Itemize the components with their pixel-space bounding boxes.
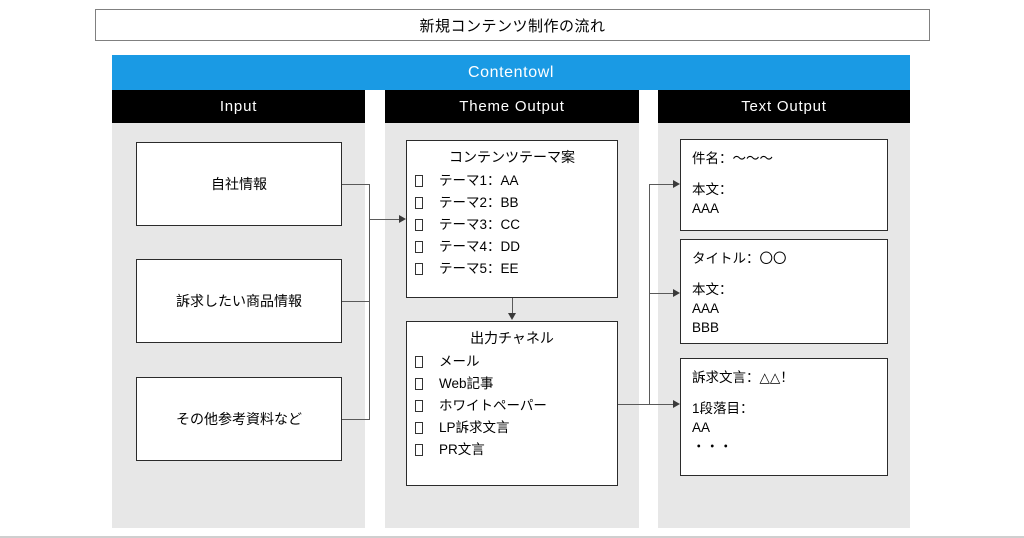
connector-input-3 — [342, 419, 370, 420]
input-card-other-materials[interactable]: その他参考資料など — [136, 377, 342, 461]
arrow-text-1-icon — [673, 180, 680, 188]
tofu-box-icon — [415, 444, 423, 456]
column-header-theme-output: Theme Output — [385, 90, 639, 123]
theme-card-content-themes[interactable]: コンテンツテーマ案 テーマ1：AA テーマ2：BB テーマ3：CC テーマ4：D… — [406, 140, 618, 298]
text-output-card-article[interactable]: タイトル：〇〇 本文： AAA BBB — [680, 239, 888, 344]
connector-input-2 — [342, 301, 370, 302]
brand-bar: Contentowl — [112, 55, 910, 90]
list-item[interactable]: テーマ5：EE — [407, 258, 617, 280]
tofu-box-icon — [415, 422, 423, 434]
tofu-box-icon — [415, 378, 423, 390]
arrow-input-to-theme-icon — [399, 215, 406, 223]
text-line: AAA — [692, 299, 887, 318]
text-line: BBB — [692, 318, 887, 337]
column-header-theme-output-label: Theme Output — [459, 98, 564, 115]
list-item[interactable]: テーマ3：CC — [407, 214, 617, 236]
text-line: 件名：～～～ — [692, 149, 887, 168]
text-line: AAA — [692, 199, 887, 218]
arrow-text-3-icon — [673, 400, 680, 408]
tofu-box-icon — [415, 175, 423, 187]
slide-title-box: 新規コンテンツ制作の流れ — [95, 9, 930, 41]
input-card-product-info-label: 訴求したい商品情報 — [176, 291, 302, 311]
text-output-card-copy[interactable]: 訴求文言：△△！ 1段落目： AA ・・・ — [680, 358, 888, 476]
list-item[interactable]: PR文言 — [407, 439, 617, 461]
list-item[interactable]: Web記事 — [407, 373, 617, 395]
list-item-label: テーマ1：AA — [439, 171, 519, 191]
list-item[interactable]: テーマ2：BB — [407, 192, 617, 214]
connector-input-to-theme — [369, 219, 400, 220]
page-title: 新規コンテンツ制作の流れ — [419, 15, 605, 36]
brand-name: Contentowl — [468, 64, 554, 82]
list-item[interactable]: テーマ4：DD — [407, 236, 617, 258]
list-item-label: Web記事 — [439, 374, 494, 394]
input-card-other-materials-label: その他参考資料など — [176, 409, 302, 429]
list-item-label: メール — [439, 352, 480, 372]
input-card-company-info-label: 自社情報 — [211, 174, 267, 194]
slide-canvas: 新規コンテンツ制作の流れ Contentowl Input 自社情報 訴求したい… — [0, 0, 1024, 538]
list-item-label: テーマ3：CC — [439, 215, 520, 235]
tofu-box-icon — [415, 219, 423, 231]
connector-text-3 — [649, 404, 675, 405]
arrow-theme-to-channel-icon — [508, 313, 516, 320]
column-header-text-output-label: Text Output — [741, 98, 827, 115]
input-card-product-info[interactable]: 訴求したい商品情報 — [136, 259, 342, 343]
connector-channel-out — [618, 404, 650, 405]
list-item[interactable]: LP訴求文言 — [407, 417, 617, 439]
text-line: 1段落目： — [692, 399, 887, 418]
list-item-label: テーマ4：DD — [439, 237, 520, 257]
tofu-box-icon — [415, 241, 423, 253]
text-output-card-mail[interactable]: 件名：～～～ 本文： AAA — [680, 139, 888, 231]
list-item-label: LP訴求文言 — [439, 418, 510, 438]
text-line: AA — [692, 418, 887, 437]
list-item-label: PR文言 — [439, 440, 485, 460]
text-spacer — [692, 387, 887, 399]
arrow-text-2-icon — [673, 289, 680, 297]
tofu-box-icon — [415, 400, 423, 412]
tofu-box-icon — [415, 197, 423, 209]
connector-text-trunk — [649, 184, 650, 405]
connector-input-1 — [342, 184, 370, 185]
theme-card-content-themes-title: コンテンツテーマ案 — [407, 147, 617, 167]
theme-card-output-channels[interactable]: 出力チャネル メール Web記事 ホワイトペーパー LP訴求文言 PR文言 — [406, 321, 618, 486]
text-line: 訴求文言：△△！ — [692, 368, 887, 387]
connector-text-1 — [649, 184, 675, 185]
list-item-label: ホワイトペーパー — [439, 396, 547, 416]
list-item-label: テーマ5：EE — [439, 259, 519, 279]
connector-text-2 — [649, 293, 675, 294]
text-line: 本文： — [692, 280, 887, 299]
input-card-company-info[interactable]: 自社情報 — [136, 142, 342, 226]
column-header-input-label: Input — [220, 98, 257, 115]
list-item[interactable]: メール — [407, 351, 617, 373]
list-item[interactable]: ホワイトペーパー — [407, 395, 617, 417]
column-header-input: Input — [112, 90, 365, 123]
list-item-label: テーマ2：BB — [439, 193, 519, 213]
tofu-box-icon — [415, 356, 423, 368]
connector-theme-to-channel — [512, 298, 513, 314]
list-item[interactable]: テーマ1：AA — [407, 170, 617, 192]
tofu-box-icon — [415, 263, 423, 275]
text-line: ・・・ — [692, 437, 887, 456]
theme-card-output-channels-title: 出力チャネル — [407, 328, 617, 348]
text-spacer — [692, 268, 887, 280]
text-line: 本文： — [692, 180, 887, 199]
text-spacer — [692, 168, 887, 180]
column-header-text-output: Text Output — [658, 90, 910, 123]
text-line: タイトル：〇〇 — [692, 249, 887, 268]
